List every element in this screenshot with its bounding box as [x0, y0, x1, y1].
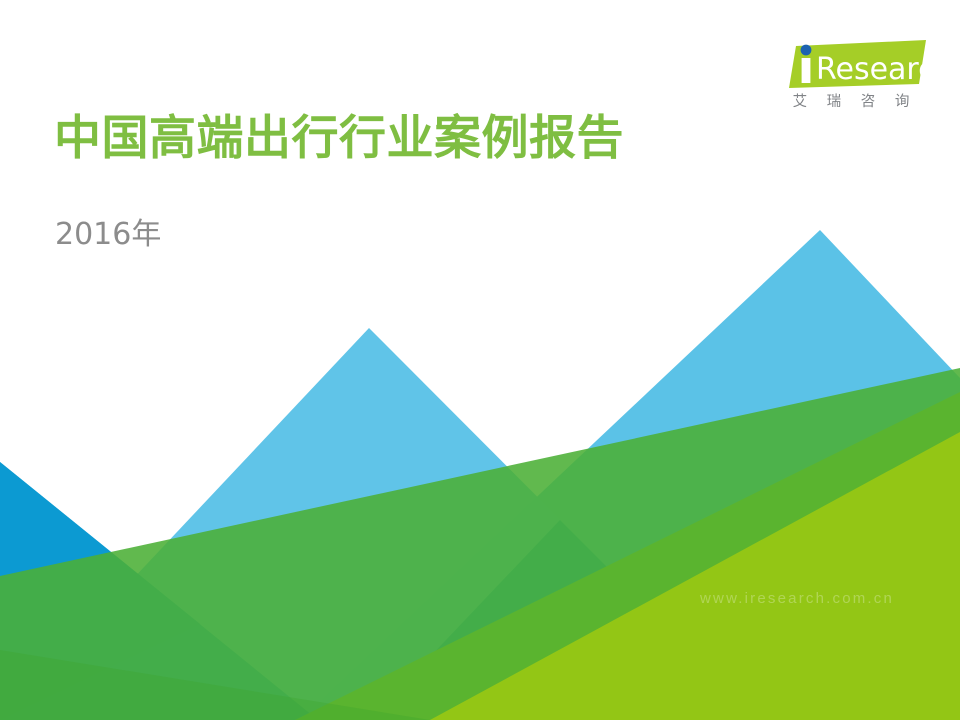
- logo-badge-icon: Research: [776, 36, 926, 88]
- logo-mark: Research: [776, 36, 926, 88]
- page-title: 中国高端出行行业案例报告: [54, 110, 624, 168]
- page-subtitle-year: 2016年: [55, 215, 161, 255]
- logo-blue-dot-icon: [801, 45, 812, 56]
- logo-wordmark-text: Research: [816, 52, 926, 87]
- presentation-title-slide: www.iresearch.com.cn Research 艾 瑞 咨 询 中国…: [0, 0, 960, 720]
- logo-chinese-name: 艾 瑞 咨 询: [776, 90, 926, 111]
- logo-i-stem: [802, 58, 811, 83]
- iresearch-logo: Research 艾 瑞 咨 询: [776, 36, 926, 114]
- watermark-url: www.iresearch.com.cn: [700, 590, 894, 607]
